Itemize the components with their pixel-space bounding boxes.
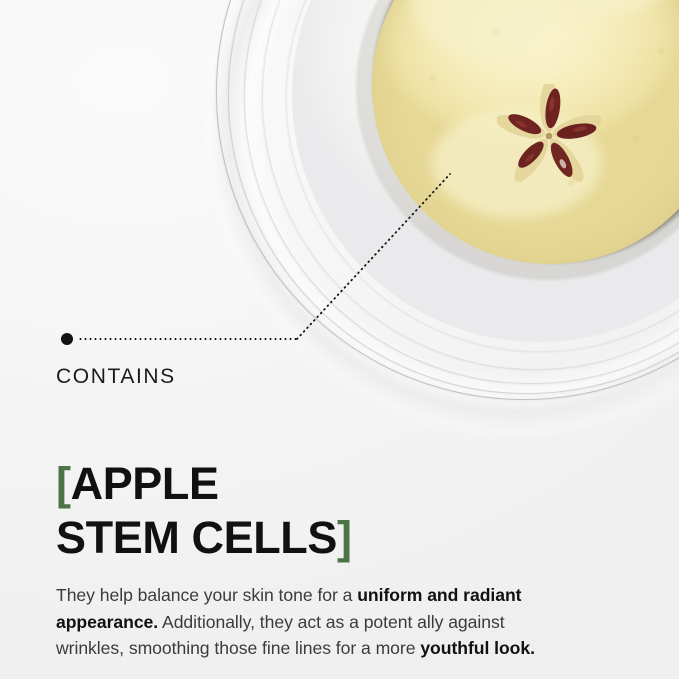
body-paragraph: They help balance your skin tone for a u…	[56, 582, 556, 662]
headline-line-1: APPLE	[71, 458, 219, 509]
close-bracket: ]	[337, 512, 352, 563]
eyebrow-label: CONTAINS	[56, 366, 576, 387]
product-ingredient-infographic: CONTAINS [APPLESTEM CELLS] They help bal…	[0, 0, 679, 679]
apple-star-core	[497, 84, 601, 188]
body-part-3: youthful look.	[420, 638, 535, 658]
body-part-0: They help balance your skin tone for a	[56, 585, 357, 605]
headline-line-2: STEM CELLS	[56, 512, 337, 563]
headline: [APPLESTEM CELLS]	[56, 403, 576, 565]
copy-block: CONTAINS [APPLESTEM CELLS] They help bal…	[56, 366, 576, 662]
open-bracket: [	[56, 458, 71, 509]
callout-marker-dot	[61, 333, 73, 345]
callout-leader-horizontal	[78, 338, 297, 340]
